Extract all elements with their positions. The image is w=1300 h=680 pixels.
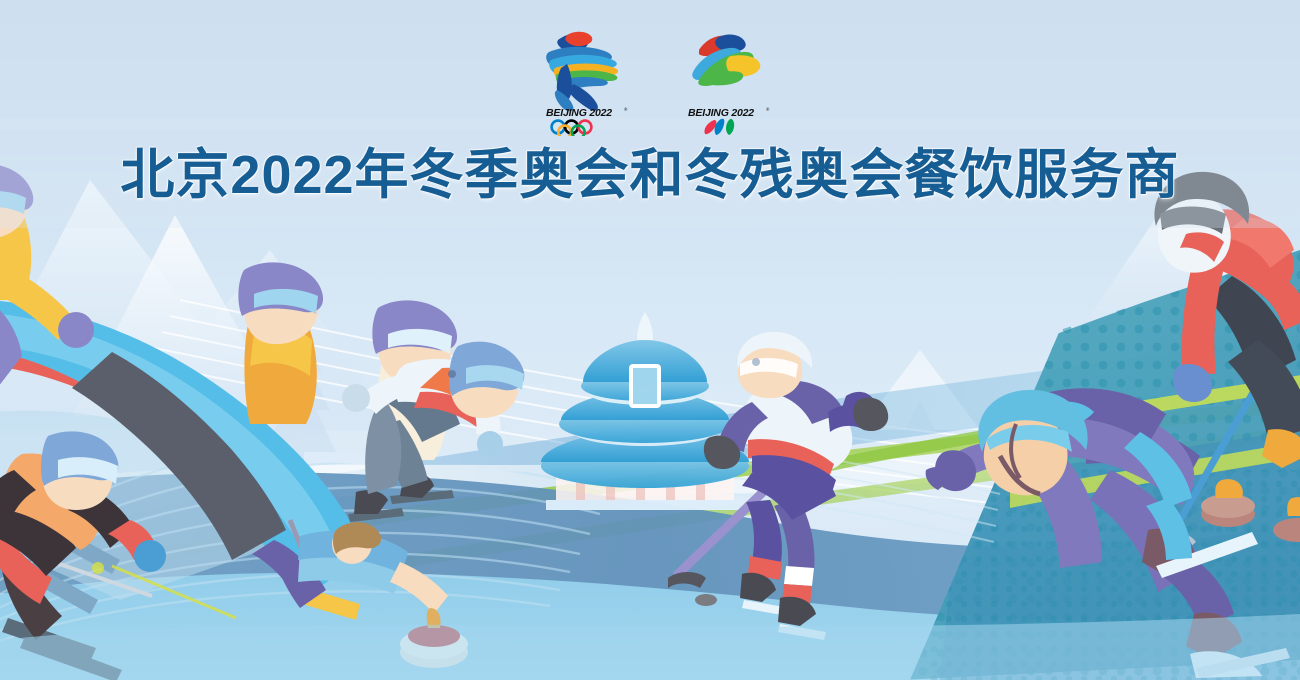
olympic-rings xyxy=(552,121,592,136)
olympic-trademark: ® xyxy=(624,106,628,112)
winter-character-dong-ribbon xyxy=(546,32,618,111)
emblem-row: BEIJING 2022 ® xyxy=(0,28,1300,136)
paralympic-wordmark: BEIJING 2022 xyxy=(688,107,754,119)
beijing-2022-paralympic-emblem: BEIJING 2022 ® xyxy=(669,28,773,136)
beijing-2022-olympic-emblem: BEIJING 2022 ® xyxy=(527,28,631,136)
banner-canvas: BEIJING 2022 ® xyxy=(0,0,1300,680)
paralympic-agitos xyxy=(704,119,734,135)
flying-figure-ribbon xyxy=(692,35,760,86)
paralympic-trademark: ® xyxy=(766,106,770,112)
page-title: 北京2022年冬季奥会和冬残奥会餐饮服务商 xyxy=(0,144,1300,206)
olympic-wordmark: BEIJING 2022 xyxy=(546,107,612,119)
